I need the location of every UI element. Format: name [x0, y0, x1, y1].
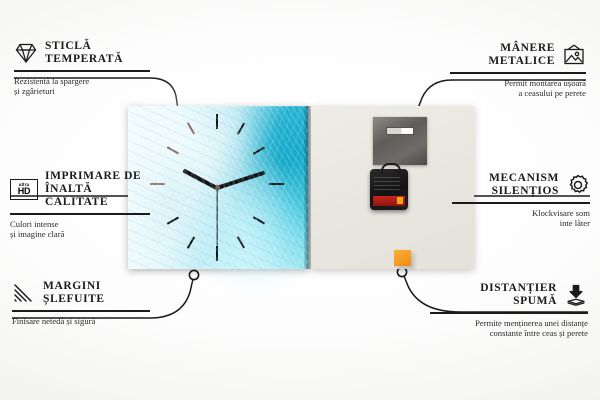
- feature-title: STICLĂ TEMPERATĂ: [45, 40, 123, 66]
- down-arrow-stack-icon: [564, 283, 588, 307]
- feature-desc: Permit montarea ușoară a ceasului pe per…: [450, 78, 586, 99]
- wall-frame-icon: [562, 43, 586, 67]
- divider: [10, 213, 150, 215]
- feature-margini-slefuite: MARGINI ȘLEFUITE Finisare netedă și sigu…: [12, 280, 150, 326]
- divider: [14, 70, 150, 72]
- feature-title: MÂNERE METALICE: [488, 42, 555, 68]
- divider: [430, 312, 588, 314]
- feature-title: MARGINI ȘLEFUITE: [43, 280, 105, 306]
- divider: [452, 202, 590, 204]
- ultra-hd-icon: ultra HD: [10, 179, 38, 200]
- feature-imprimare-hd: ultra HD IMPRIMARE DE ÎNALTĂ CALITATE Cu…: [10, 170, 150, 239]
- diamond-icon: [14, 41, 38, 65]
- clock-mechanism: [370, 169, 408, 210]
- ultra-hd-icon-main-label: HD: [18, 187, 31, 196]
- feature-desc: Permite menținerea unei distanțe constan…: [430, 318, 588, 339]
- feature-title: IMPRIMARE DE ÎNALTĂ CALITATE: [45, 170, 150, 209]
- second-hand: [216, 188, 217, 246]
- divider: [12, 310, 150, 312]
- feature-title: MECANISM SILENȚIOS: [489, 172, 559, 198]
- foam-spacer: [394, 250, 411, 266]
- feature-desc: Finisare netedă și sigură: [12, 316, 150, 326]
- feature-desc: Klockvisare som inte låter: [452, 208, 590, 229]
- gear-icon: [566, 173, 590, 197]
- feature-sticla-temperata: STICLĂ TEMPERATĂ Rezistentă la spargere …: [14, 40, 150, 96]
- minute-hand: [216, 171, 265, 190]
- feature-title: DISTANȚIER SPUMĂ: [480, 282, 557, 308]
- feature-manere-metalice: MÂNERE METALICE Permit montarea ușoară a…: [450, 42, 586, 98]
- hour-hand: [182, 168, 218, 190]
- metal-hanger-plate: [373, 117, 427, 165]
- feature-mecanism-silentios: MECANISM SILENȚIOS Klockvisare som inte …: [452, 172, 590, 228]
- feature-distantier-spuma: DISTANȚIER SPUMĂ Permite menținerea unei…: [430, 282, 588, 338]
- infographic-canvas: STICLĂ TEMPERATĂ Rezistentă la spargere …: [0, 0, 600, 400]
- beveled-edge-icon: [12, 281, 36, 305]
- clock-face-panel: [128, 106, 308, 269]
- feature-desc: Culori intense și imagine clară: [10, 219, 150, 240]
- clock-hub: [215, 185, 220, 190]
- clock-dial: [128, 106, 308, 269]
- divider: [450, 72, 586, 74]
- feature-desc: Rezistentă la spargere și zgârieturi: [14, 76, 150, 97]
